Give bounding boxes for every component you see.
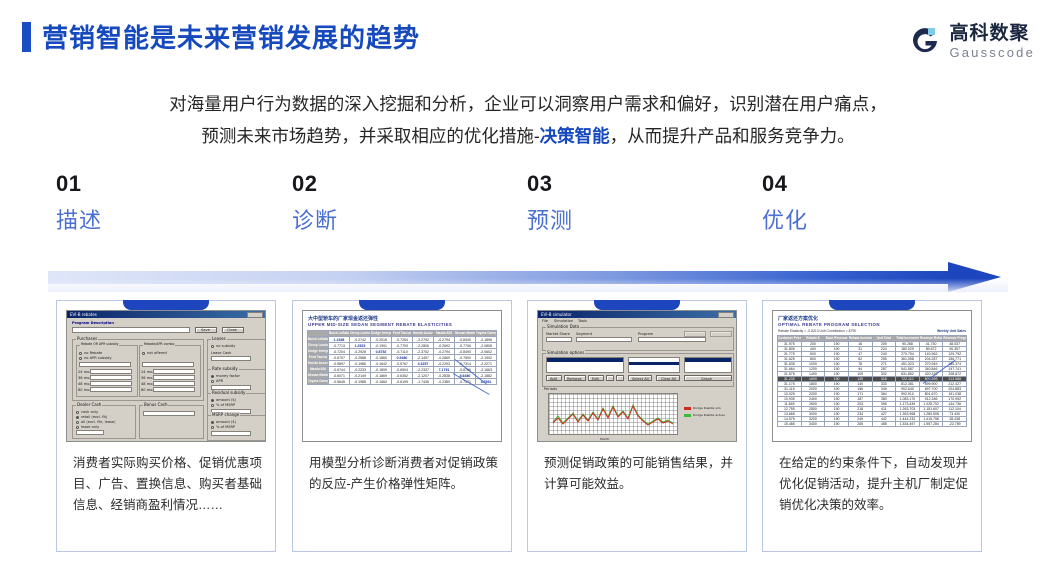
matrix-cell: -0.1660 — [371, 379, 392, 385]
simulator-down-button[interactable] — [616, 375, 624, 381]
legend-label-actual: Dodge Dakota actual — [693, 413, 725, 417]
intro-line-2: 预测未来市场趋势，并采取相应的优化措施-决策智能，从而提升产品和服务竞争力。 — [48, 120, 1008, 152]
dialog-apr-term-60-label: 60 mo. — [141, 388, 154, 392]
optimizer-title-cn: 厂家返还方案优化 — [778, 315, 818, 322]
dialog-bonus-cash-label: Bonus Cash — [143, 402, 168, 407]
gausscode-logo-icon — [908, 24, 942, 58]
card-predict[interactable]: EVI-B simulator File Simulation Tools Si… — [527, 300, 747, 552]
intro-line-1: 对海量用户行为数据的深入挖掘和分析，企业可以洞察用户需求和偏好，识别潜在用户痛点… — [48, 88, 1008, 120]
simulator-graph-label: Graph — [701, 377, 712, 381]
logo-text-en: Gausscode — [949, 46, 1035, 59]
matrix-col-4: Honda Accord — [413, 331, 434, 337]
simulator-segment-select[interactable] — [576, 337, 632, 342]
matrix-title-en: UPPER MID-SIZE SEDAN SEGMENT REBATE ELAS… — [308, 322, 452, 327]
card-3-tab — [594, 300, 680, 310]
brand-logo: 高科数聚 Gausscode — [908, 18, 1035, 64]
matrix-col-0: Buick LeSabre — [329, 331, 350, 337]
optimizer-col-3: Rebate Incremental — [848, 336, 872, 342]
simulator-menu-tools[interactable]: Tools — [578, 319, 587, 323]
card-3-caption: 预测促销政策的可能销售结果，并计算可能效益。 — [544, 453, 733, 495]
simulator-title-text: EVI-B simulator — [541, 312, 572, 317]
step-4-label: 优化 — [762, 208, 982, 234]
optimizer-cell: 190 — [825, 422, 849, 427]
card-1-tab — [123, 300, 209, 310]
simulator-program-select[interactable] — [638, 337, 706, 342]
card-2-caption: 用模型分析诊断消费者对促销政策的反应-产生价格弹性矩阵。 — [309, 453, 498, 495]
card-1-caption: 消费者实际购买价格、促销优惠项目、广告、置换信息、购买者基础信息、经销商盈利情况… — [73, 453, 262, 516]
simulator-options-label: Simulation options — [546, 350, 585, 355]
matrix-col-2: Dodge Intrepid — [371, 331, 392, 337]
simulator-program-label: Program — [638, 332, 653, 336]
page-header: 营销智能是未来营销发展的趋势 高科数聚 Gausscode — [0, 0, 1051, 72]
dialog-rate-apr-label: APR — [216, 379, 223, 383]
step-4-number: 04 — [762, 172, 982, 196]
optimizer-cell: 3400 — [801, 422, 825, 427]
dialog-titlebar: EVI-B rebates — [67, 311, 265, 318]
dialog-apr-amount-input[interactable] — [142, 362, 194, 367]
step-2-number: 02 — [292, 172, 512, 196]
dialog-lease-no-subsidy-label: no subsidy — [216, 344, 235, 348]
dialog-program-input[interactable] — [72, 327, 190, 333]
matrix-row-7: Toyota Camry — [308, 379, 329, 385]
simulator-chart — [548, 393, 678, 435]
card-1-thumbnail: EVI-B rebates Program Description Save C… — [66, 310, 266, 442]
card-4-caption: 在给定的约束条件下，自动发现并优化促销活动，提升主机厂制定促销优化决策的效率。 — [779, 453, 968, 516]
simulator-market-share-label: Market Share — [546, 332, 570, 336]
dialog-dealer-cash-input[interactable] — [76, 430, 104, 435]
dialog-program-label: Program Description — [72, 321, 114, 325]
step-3-label: 预测 — [527, 208, 747, 234]
dialog-apr-term-60-input[interactable] — [153, 387, 195, 392]
dialog-bonus-cash-input[interactable] — [143, 411, 195, 416]
dialog-term-36-label: 36 mo. — [78, 376, 91, 380]
optimizer-cell: 1.557.284 — [919, 422, 943, 427]
dialog-dealer-opt-1[interactable] — [76, 411, 79, 414]
optimizer-col-2: Base Revenue — [825, 336, 849, 342]
dialog-residual-pct[interactable] — [211, 404, 214, 407]
card-3-thumbnail: EVI-B simulator File Simulation Tools Si… — [537, 310, 737, 442]
rebate-dialog-window: EVI-B rebates Program Description Save C… — [67, 311, 265, 441]
simulator-select-all-label: Select All — [632, 377, 649, 381]
dialog-rate-apr[interactable] — [211, 380, 214, 383]
dialog-msrp-pct[interactable] — [211, 426, 214, 429]
dialog-leases-label: Leases — [211, 336, 227, 341]
intro-line-2-before: 预测未来市场趋势，并采取相应的优化措施- — [201, 126, 539, 146]
dialog-lease-no-subsidy[interactable] — [211, 345, 214, 348]
matrix-row-3: Ford Taurus — [308, 355, 329, 361]
card-optimize[interactable]: 厂家返还方案优化 OPTIMAL REBATE PROGRAM SELECTIO… — [762, 300, 982, 552]
dialog-dealer-opt-4[interactable] — [76, 426, 79, 429]
dialog-lease-cash-label: Lease Cash — [211, 351, 231, 355]
card-row: EVI-B rebates Program Description Save C… — [0, 300, 1051, 560]
simulator-options-selected — [547, 358, 623, 362]
simulator-menu-file[interactable]: File — [542, 319, 548, 323]
optimizer-col-6: Revenue Rebate Cost — [919, 336, 943, 342]
matrix-title-cn: 大中型轿车的厂家现金返还弹性 — [308, 315, 378, 322]
optimizer-col-0: Customer Price — [778, 336, 802, 342]
dialog-title-text: EVI-B rebates — [70, 312, 97, 317]
optimizer-report: 厂家返还方案优化 OPTIMAL REBATE PROGRAM SELECTIO… — [773, 311, 971, 441]
simulator-model-selected — [629, 362, 679, 366]
chart-xlabel: Month — [600, 437, 609, 441]
dialog-apr-term-24-input[interactable] — [153, 369, 195, 374]
dialog-radio-no-apr[interactable] — [79, 357, 82, 360]
dialog-dealer-cash-label: Dealer Cash — [76, 402, 102, 407]
title-accent-bar — [22, 22, 31, 52]
matrix-table: Buick LeSabreChevy LuminaDodge IntrepidF… — [307, 330, 497, 385]
legend-swatch-sim — [684, 407, 691, 410]
step-1-label: 描述 — [56, 208, 276, 234]
dialog-lease-cash-input[interactable] — [211, 356, 251, 361]
optimizer-col-7: Revenue Program Profit — [943, 336, 967, 342]
dialog-residual-amount[interactable] — [211, 399, 214, 402]
optimizer-col-5: Total Incremental Gross Revenue — [896, 336, 920, 342]
step-3: 03 预测 — [527, 172, 747, 234]
simulator-model-listbox[interactable] — [628, 357, 680, 373]
dialog-msrp-amount-label: amount ($) — [216, 420, 236, 424]
page-title: 营销智能是未来营销发展的趋势 — [42, 18, 420, 55]
dialog-apr-term-48-input[interactable] — [153, 381, 195, 386]
dialog-rate-money-factor[interactable] — [211, 375, 214, 378]
matrix-row-1: Chevy Lumina — [308, 343, 329, 349]
dialog-apr-combo-label: Rebate/APR combo — [143, 342, 175, 346]
legend-label-sim: Dodge Dakota sim — [693, 406, 721, 410]
chart-series — [549, 394, 679, 436]
matrix-cell: -0.5645 — [329, 379, 350, 385]
matrix-row-0: Buick LeSabre — [308, 337, 329, 343]
optimizer-cornernote: Weekly Unit Sales — [937, 329, 966, 333]
arrow-head-icon — [948, 262, 1001, 292]
optimizer-cell: 1.534.497 — [896, 422, 920, 427]
dialog-apr-term-36-input[interactable] — [153, 375, 195, 380]
simulator-menu-simulation[interactable]: Simulation — [554, 319, 573, 323]
simulator-data-label: Simulation Data — [546, 324, 580, 329]
card-describe[interactable]: EVI-B rebates Program Description Save C… — [56, 300, 276, 552]
arrow-shaft — [48, 271, 953, 284]
table-row: 15.48534001902654581.534.4971.557.284-22… — [778, 422, 967, 427]
dialog-purchases-label: Purchases — [76, 336, 98, 341]
dialog-save-label: Save — [201, 328, 210, 332]
simulator-titlebar: EVI-B simulator — [538, 311, 736, 318]
card-4-tab — [829, 300, 915, 310]
card-diagnose[interactable]: 大中型轿车的厂家现金返还弹性 UPPER MID-SIZE SEDAN SEGM… — [292, 300, 512, 552]
optimizer-cell: 265 — [848, 422, 872, 427]
dialog-rate-subsidy-label: Rate subsidy — [211, 366, 239, 371]
dialog-residual-label: Residual subsidy — [211, 390, 246, 395]
dialog-residual-amount-label: amount ($) — [216, 398, 236, 402]
dialog-dealer-opt-1-label: cash only — [81, 410, 98, 414]
simulator-up-button[interactable] — [606, 375, 614, 381]
dialog-close-label: Close — [227, 328, 237, 332]
step-2: 02 诊断 — [292, 172, 512, 234]
matrix-cell: -0.6199 — [392, 379, 413, 385]
progress-arrow — [48, 262, 1008, 292]
simulator-aux-button-1[interactable] — [684, 331, 706, 337]
matrix-col-6: Nissan Maxima — [455, 331, 476, 337]
card-2-thumbnail: 大中型轿车的厂家现金返还弹性 UPPER MID-SIZE SEDAN SEGM… — [302, 310, 502, 442]
simulator-aux-button-2[interactable] — [710, 331, 732, 337]
step-1: 01 描述 — [56, 172, 276, 234]
dialog-msrp-pct-label: % of MSRP — [216, 425, 235, 429]
dialog-radio-no-rebate-label: no Rebate — [84, 351, 102, 355]
matrix-row-6: Nissan Maxima — [308, 373, 329, 379]
simulator-clear-all-label: Clear All — [661, 377, 676, 381]
dialog-dealer-opt-2-label: retail (excl. flt) — [81, 415, 107, 419]
step-2-label: 诊断 — [292, 208, 512, 234]
simulator-segment-label: Segment — [576, 332, 592, 336]
matrix-row-4: Honda Accord — [308, 361, 329, 367]
dialog-msrp-label: MSRP change — [211, 412, 240, 417]
dialog-radio-no-rebate[interactable] — [79, 352, 82, 355]
chart-line-sim — [553, 406, 673, 425]
simulator-edit-label: Edit — [592, 377, 599, 381]
elasticity-matrix: 大中型轿车的厂家现金返还弹性 UPPER MID-SIZE SEDAN SEGM… — [303, 311, 501, 441]
optimizer-cell: -22.789 — [943, 422, 967, 427]
matrix-row-2: Dodge Intrepid — [308, 349, 329, 355]
matrix-cell: -1.7436 — [413, 379, 434, 385]
dialog-dealer-opt-3[interactable] — [76, 421, 79, 424]
dialog-term-60-label: 60 mo. — [78, 388, 91, 392]
optimizer-title-en: OPTIMAL REBATE PROGRAM SELECTION — [778, 322, 880, 327]
dialog-term-60-input[interactable] — [90, 387, 132, 392]
simulator-window: EVI-B simulator File Simulation Tools Si… — [538, 311, 736, 441]
dialog-dealer-opt-4-label: lease only — [81, 425, 99, 429]
matrix-row-5: Mazda 626 — [308, 367, 329, 373]
dialog-apr-term-48-label: 48 mo. — [141, 382, 154, 386]
optimizer-table: Customer PriceRebate $Base RevenueRebate… — [777, 335, 967, 427]
optimizer-cell: 15.485 — [778, 422, 802, 427]
step-1-number: 01 — [56, 172, 276, 196]
matrix-col-5: Mazda 626 — [434, 331, 455, 337]
matrix-col-7: Toyota Camry — [476, 331, 497, 337]
legend-swatch-actual — [684, 414, 691, 417]
dialog-radio-not-offered[interactable] — [142, 352, 145, 355]
dialog-rate-money-factor-label: money factor — [216, 374, 240, 378]
dialog-radio-no-apr-label: no APR subsidy — [84, 356, 112, 360]
matrix-col-3: Ford Taurus — [392, 331, 413, 337]
simulator-output-selected — [685, 358, 731, 362]
dialog-msrp-amount[interactable] — [211, 421, 214, 424]
dialog-window-buttons[interactable] — [247, 312, 263, 318]
dialog-dealer-opt-2[interactable] — [76, 416, 79, 419]
dialog-term-24-input[interactable] — [90, 369, 132, 374]
dialog-msrp-input[interactable] — [211, 431, 251, 436]
card-4-thumbnail: 厂家返还方案优化 OPTIMAL REBATE PROGRAM SELECTIO… — [772, 310, 972, 442]
simulator-remove-label: Remove — [567, 377, 582, 381]
dialog-rebate-amount-input[interactable] — [79, 362, 131, 367]
dialog-radio-not-offered-label: not offered — [147, 351, 167, 355]
matrix-col-1: Chevy Lumina — [350, 331, 371, 337]
logo-text-cn: 高科数聚 — [949, 24, 1035, 43]
dialog-apr-term-36-label: 36 mo. — [141, 376, 154, 380]
step-3-number: 03 — [527, 172, 747, 196]
step-4: 04 优化 — [762, 172, 982, 234]
intro-line-2-after: ，从而提升产品和服务竞争力。 — [610, 126, 855, 146]
simulator-market-share-select[interactable] — [546, 337, 572, 342]
simulator-window-buttons[interactable] — [718, 312, 734, 318]
dialog-dealer-opt-3-label: all (excl. fltr, lease) — [81, 420, 116, 424]
dialog-apr-term-24-label: 24 mo. — [141, 370, 154, 374]
intro-paragraph: 对海量用户行为数据的深入挖掘和分析，企业可以洞察用户需求和偏好，识别潜在用户痛点… — [48, 88, 1008, 152]
simulator-add-label: Add — [550, 377, 557, 381]
matrix-cell: -0.1988 — [350, 379, 371, 385]
optimizer-subnote: Rebate Elasticity = -0.8213 Unit Contrib… — [778, 329, 856, 333]
dialog-rebate-combo-label: Rebate OR APR subsidy — [80, 342, 119, 346]
matrix-cell: -0.2380 — [434, 379, 455, 385]
dialog-term-48-label: 48 mo. — [78, 382, 91, 386]
intro-highlight: 决策智能 — [540, 126, 610, 146]
simulator-periods-label: Periods — [544, 387, 557, 391]
dialog-residual-pct-label: % of MSRP — [216, 403, 235, 407]
dialog-term-24-label: 24 mo. — [78, 370, 91, 374]
optimizer-cell: 458 — [872, 422, 896, 427]
step-labels: 01 描述 02 诊断 03 预测 04 优化 — [0, 172, 1051, 252]
card-2-tab — [359, 300, 445, 310]
dialog-term-36-input[interactable] — [90, 375, 132, 380]
dialog-term-48-input[interactable] — [90, 381, 132, 386]
